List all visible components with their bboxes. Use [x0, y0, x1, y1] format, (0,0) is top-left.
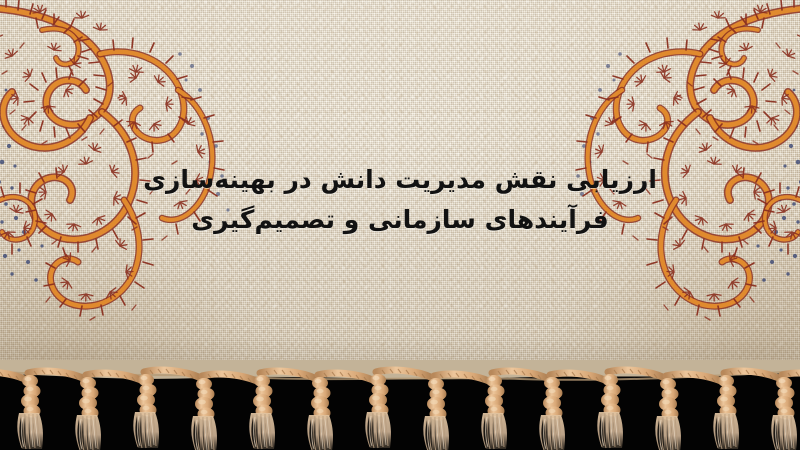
title-line-2: فرآیندهای سازمانی و تصمیم‌گیری — [0, 200, 800, 240]
title-line-1: ارزیابی نقش مدیریت دانش در بهینه‌سازی — [0, 160, 800, 200]
title-slide: ارزیابی نقش مدیریت دانش در بهینه‌سازی فر… — [0, 0, 800, 450]
slide-title: ارزیابی نقش مدیریت دانش در بهینه‌سازی فر… — [0, 160, 800, 240]
tassel-fringe-icon — [0, 360, 800, 450]
black-background-area — [0, 360, 800, 450]
